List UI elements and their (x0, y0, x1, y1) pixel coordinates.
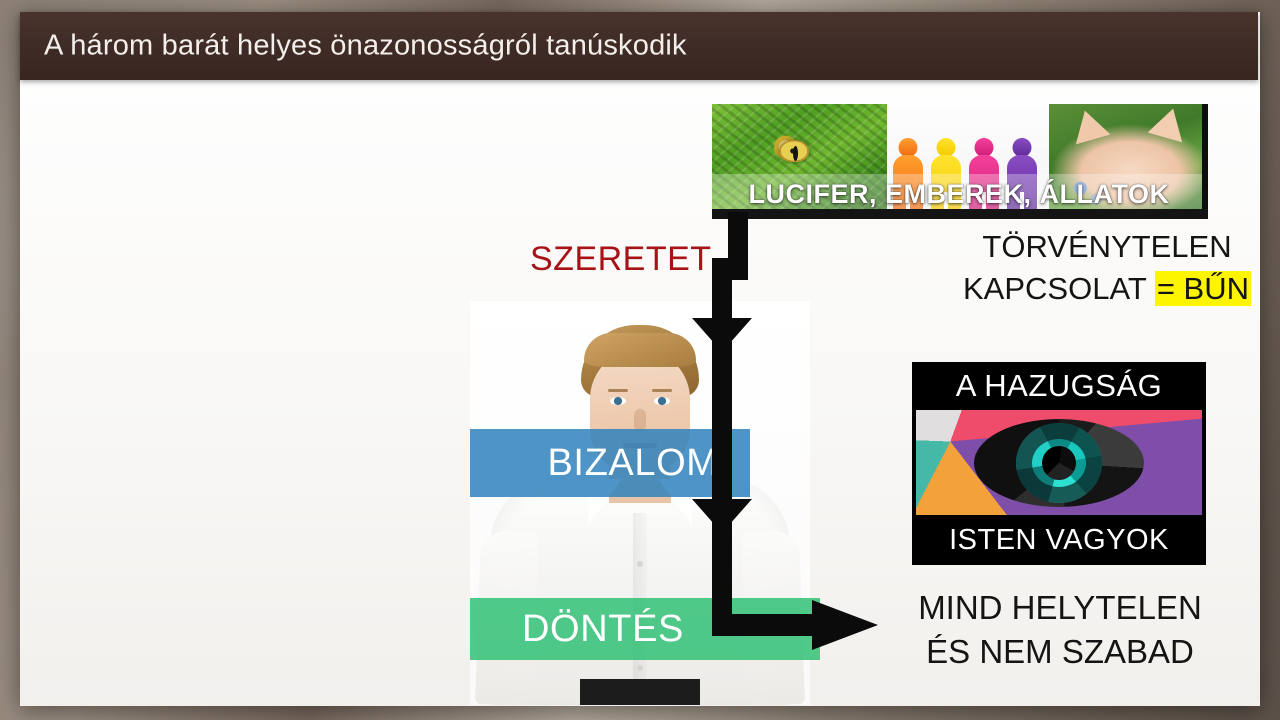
kapcsolat-word: KAPCSOLAT (963, 271, 1155, 306)
hazugsag-meme-box: A HAZUGSÁG ISTEN VAGYOK (912, 362, 1206, 565)
title-bar: A három barát helyes önazonosságról tanú… (20, 12, 1258, 80)
nose (634, 409, 646, 431)
dontes-bar: DÖNTÉS (470, 598, 820, 660)
bizalom-label: BIZALOM (501, 442, 718, 485)
shirt-button (637, 561, 643, 567)
eye-right (654, 397, 670, 405)
top-banner-image-group: LUCIFER, EMBEREK, ÁLLATOK (712, 104, 1206, 212)
eyebrow-right (652, 389, 672, 392)
conclusion-line2: ÉS NEM SZABAD (926, 633, 1194, 670)
banner-caption-text: LUCIFER, EMBEREK, ÁLLATOK (712, 179, 1206, 210)
torvenytelen-line1: TÖRVÉNYTELEN (982, 229, 1231, 264)
hair-fringe (584, 333, 696, 367)
conclusion-text: MIND HELYTELEN ÉS NEM SZABAD (900, 586, 1220, 674)
shirt-button (637, 665, 643, 671)
conclusion-line1: MIND HELYTELEN (918, 589, 1202, 626)
page-title: A három barát helyes önazonosságról tanú… (44, 30, 687, 63)
bun-highlight: = BŰN (1155, 271, 1251, 306)
banner-bottom-shadow (712, 209, 1208, 219)
torvenytelen-line2: KAPCSOLAT = BŰN (962, 268, 1252, 310)
slide-stage: A három barát helyes önazonosságról tanú… (0, 0, 1280, 720)
polygonal-eye-image (916, 410, 1202, 515)
szeretet-label: SZERETET (530, 240, 712, 279)
eyebrow-left (608, 389, 628, 392)
meme-top-text: A HAZUGSÁG (912, 362, 1206, 410)
banner-right-edge (1202, 104, 1208, 214)
bizalom-bar: BIZALOM (470, 429, 750, 497)
dontes-label: DÖNTÉS (522, 608, 768, 651)
eye-left (610, 397, 626, 405)
belt (580, 679, 700, 705)
eye-pupil (1042, 446, 1076, 480)
meme-bottom-text: ISTEN VAGYOK (912, 515, 1206, 565)
torvenytelen-kapcsolat-text: TÖRVÉNYTELEN KAPCSOLAT = BŰN (962, 226, 1252, 310)
